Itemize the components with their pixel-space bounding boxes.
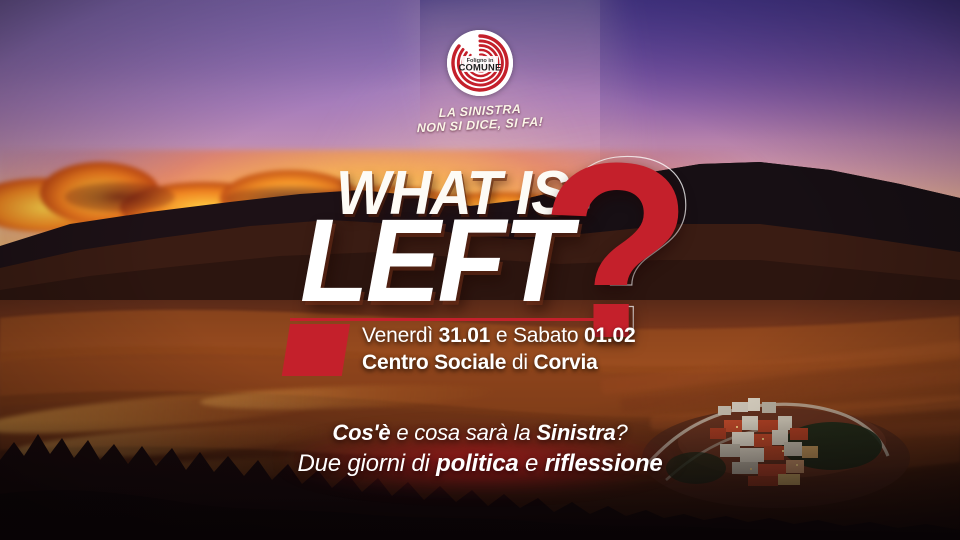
spiral-circle-logo-icon: Foligno in COMUNE xyxy=(447,30,513,96)
footer-tagline-block: Cos'è e cosa sarà la Sinistra? Due giorn… xyxy=(0,420,960,478)
event-venue-line: Centro Sociale di Corvia xyxy=(362,351,636,375)
date-prefix: Venerdì xyxy=(362,324,433,347)
date-first: 31.01 xyxy=(439,324,491,347)
footer-l1-c: Sinistra xyxy=(536,420,615,445)
logo-name-main: COMUNE xyxy=(459,62,502,73)
venue-place: Corvia xyxy=(533,351,597,374)
date-text-group: Venerdì 31.01 e Sabato 01.02 Centro Soci… xyxy=(362,324,636,375)
date-top-rule xyxy=(290,318,620,321)
date-red-tab xyxy=(282,324,350,376)
headline-block: ? WHAT IS ? LEFT xyxy=(0,150,960,330)
footer-l2-d: riflessione xyxy=(545,450,663,477)
footer-l1-b: e cosa sarà la xyxy=(396,420,530,445)
footer-tagline-line1: Cos'è e cosa sarà la Sinistra? xyxy=(0,420,960,446)
organisation-logo-block: Foligno in COMUNE LA SINISTRA NON SI DIC… xyxy=(0,30,960,131)
headline-line2: LEFT xyxy=(300,202,569,320)
footer-l2-c: e xyxy=(525,450,538,477)
footer-l2-b: politica xyxy=(436,450,518,477)
event-date-line: Venerdì 31.01 e Sabato 01.02 xyxy=(362,324,636,348)
footer-tagline-line2: Due giorni di politica e riflessione xyxy=(0,450,960,478)
venue-connector: di xyxy=(512,351,528,374)
date-conjunction: e Sabato xyxy=(496,324,578,347)
event-poster: Foligno in COMUNE LA SINISTRA NON SI DIC… xyxy=(0,0,960,540)
footer-l1-d: ? xyxy=(616,420,628,445)
footer-l2-a: Due giorni di xyxy=(298,450,430,477)
date-second: 01.02 xyxy=(584,324,636,347)
logo-tagline: LA SINISTRA NON SI DICE, SI FA! xyxy=(0,105,960,131)
venue-name: Centro Sociale xyxy=(362,351,506,374)
footer-l1-a: Cos'è xyxy=(332,420,390,445)
